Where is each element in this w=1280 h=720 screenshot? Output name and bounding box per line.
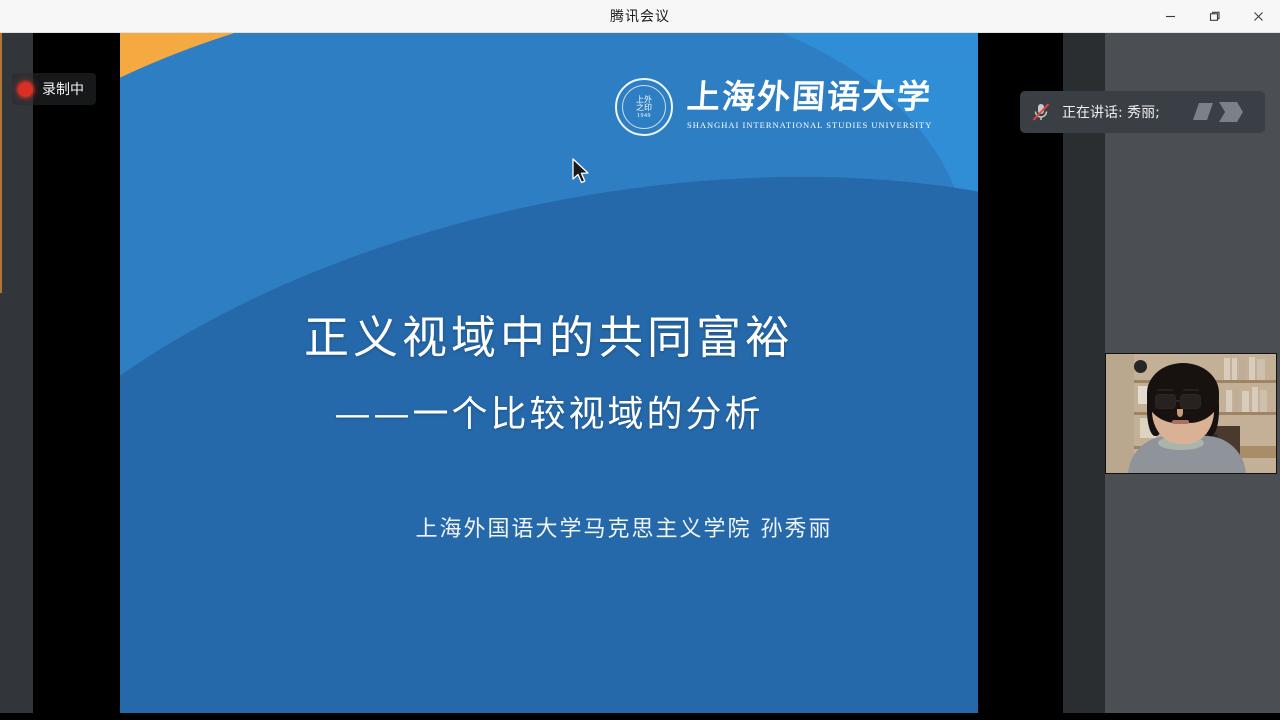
shelf-book (1226, 390, 1232, 412)
minimize-button[interactable] (1148, 0, 1192, 33)
close-button[interactable] (1236, 0, 1280, 33)
shelf-book (1249, 357, 1255, 380)
recording-label: 录制中 (42, 79, 84, 99)
active-speaker-banner[interactable]: 正在讲话: 秀丽; (1020, 91, 1265, 133)
window-controls (1148, 0, 1280, 33)
microphone-muted-icon (1030, 101, 1052, 123)
slide-subtitle: ——一个比较视域的分析 (120, 385, 978, 437)
left-rail-accent (0, 33, 2, 293)
meeting-window: 腾讯会议 (0, 0, 1280, 720)
shelf-book (1260, 390, 1267, 412)
maximize-icon (1208, 10, 1221, 23)
emblem-inner: 上外 之印 1949 (636, 96, 652, 119)
maximize-button[interactable] (1192, 0, 1236, 33)
shelf-book (1252, 387, 1258, 412)
participant-eyebrow-right (1183, 389, 1199, 391)
shelf-book (1232, 358, 1237, 380)
shelf-decor-ball (1134, 360, 1147, 373)
recording-dot-icon (18, 82, 33, 97)
university-emblem-icon: 上外 之印 1949 (615, 78, 673, 136)
speaker-chevrons-icon (1193, 99, 1255, 125)
title-bar: 腾讯会议 (0, 0, 1280, 33)
shared-screen-slide[interactable]: 上外 之印 1949 上海外国语大学 SHANGHAI INTERNATIONA… (120, 33, 978, 713)
glasses-lens-right (1180, 394, 1201, 409)
glasses-bridge (1176, 400, 1181, 402)
window-title: 腾讯会议 (610, 6, 670, 26)
university-logo: 上外 之印 1949 上海外国语大学 SHANGHAI INTERNATIONA… (615, 78, 932, 136)
shelf-book (1239, 360, 1246, 380)
stage-letterbox-right (978, 33, 1063, 713)
slide-title: 正义视域中的共同富裕 (120, 301, 978, 366)
recording-badge[interactable]: 录制中 (12, 73, 96, 105)
minimize-icon (1164, 10, 1177, 23)
participant-eyebrow-left (1157, 389, 1173, 391)
participant-nose (1177, 409, 1183, 417)
emblem-glyph: 上外 之印 (636, 96, 652, 112)
participant-video-thumbnail[interactable] (1105, 353, 1277, 474)
meeting-stage: 录制中 上外 之印 1949 上海外国语大学 (0, 33, 1280, 713)
active-speaker-label: 正在讲话: 秀丽; (1062, 102, 1160, 122)
left-rail (0, 33, 33, 713)
shelf-book (1242, 391, 1249, 412)
university-name-cn: 上海外国语大学 (686, 78, 934, 116)
glasses-lens-left (1155, 394, 1176, 409)
participant-hair (1147, 363, 1219, 423)
slide-presenter: 上海外国语大学马克思主义学院 孙秀丽 (120, 511, 978, 543)
shelf-book (1234, 388, 1239, 412)
university-name-en: SHANGHAI INTERNATIONAL STUDIES UNIVERSIT… (687, 120, 932, 130)
slide-content: 上外 之印 1949 上海外国语大学 SHANGHAI INTERNATIONA… (120, 33, 978, 713)
shelf-book (1224, 358, 1230, 380)
logo-text: 上海外国语大学 SHANGHAI INTERNATIONAL STUDIES U… (687, 78, 932, 130)
emblem-year: 1949 (637, 113, 651, 119)
shelf-book (1257, 359, 1265, 380)
participant-mouth (1172, 420, 1189, 424)
close-icon (1252, 10, 1265, 23)
